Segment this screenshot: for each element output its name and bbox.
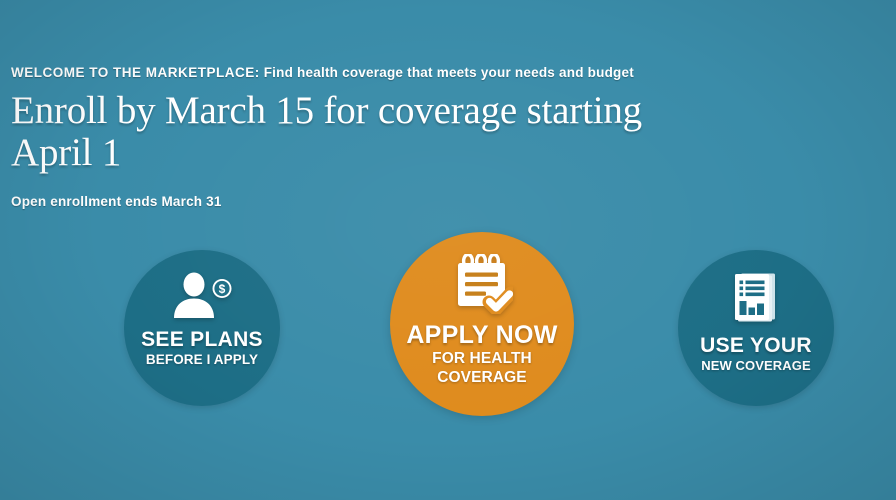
person-with-dollar-coin-icon: $: [171, 272, 233, 318]
action-circles-group: $ SEE PLANS BEFORE I APPLY: [0, 0, 896, 500]
use-coverage-button[interactable]: USE YOUR NEW COVERAGE: [678, 250, 834, 406]
svg-text:$: $: [219, 282, 226, 296]
apply-now-button[interactable]: APPLY NOW FOR HEALTH COVERAGE: [390, 232, 574, 416]
apply-now-label: APPLY NOW: [406, 323, 557, 348]
marketplace-banner-screen: WELCOME TO THE MARKETPLACE: Find health …: [0, 0, 896, 500]
use-coverage-sublabel: NEW COVERAGE: [701, 359, 811, 373]
apply-now-sublabel-line2: COVERAGE: [437, 370, 527, 386]
use-coverage-label: USE YOUR: [700, 335, 812, 356]
see-plans-button[interactable]: $ SEE PLANS BEFORE I APPLY: [124, 250, 280, 406]
see-plans-sublabel: BEFORE I APPLY: [146, 353, 258, 367]
document-with-bar-chart-icon: [731, 272, 781, 324]
notepad-with-checkmark-icon: [451, 254, 513, 314]
see-plans-label: SEE PLANS: [141, 329, 263, 350]
apply-now-sublabel-line1: FOR HEALTH: [432, 351, 532, 367]
